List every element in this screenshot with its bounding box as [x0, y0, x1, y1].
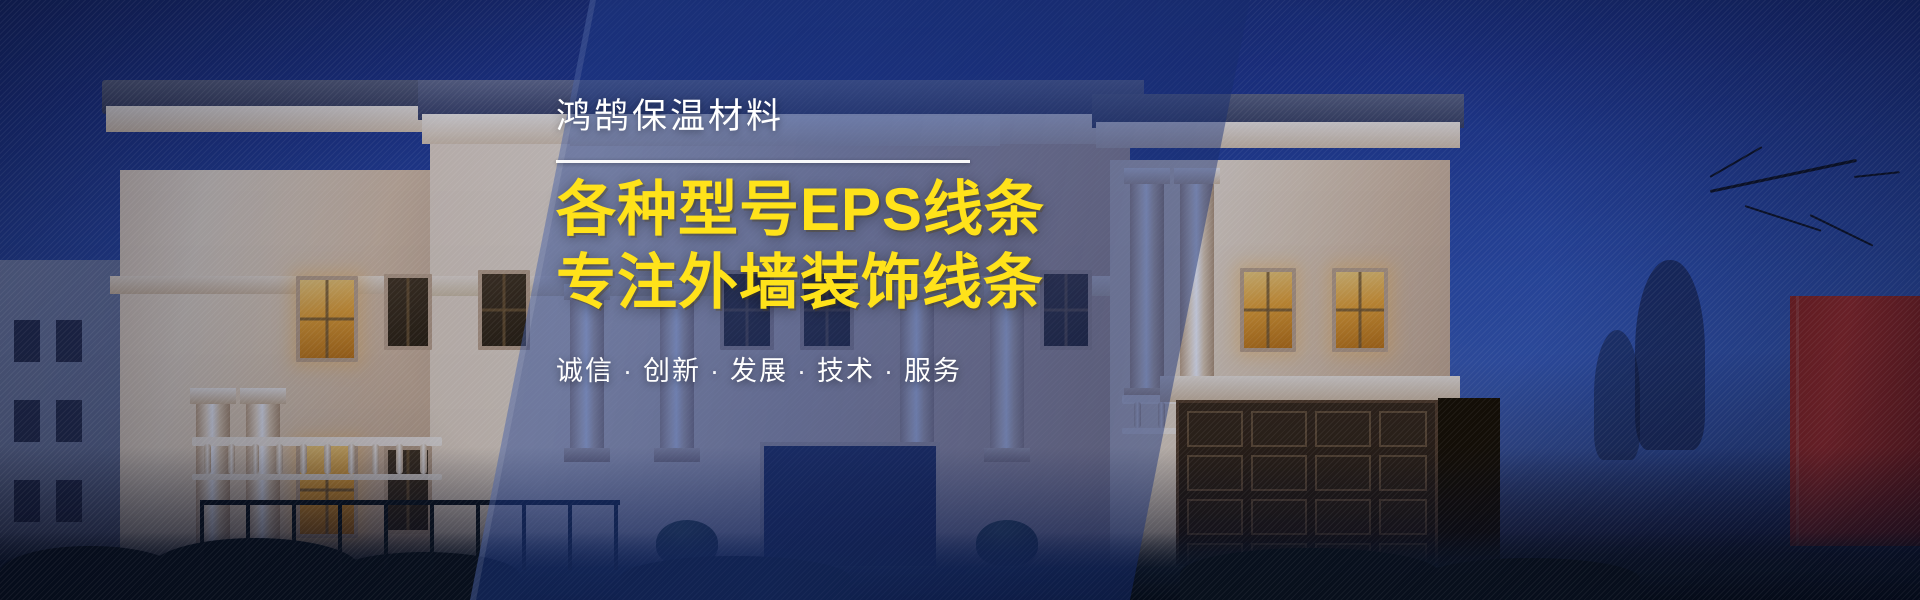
- tagline-item: 诚信: [556, 356, 614, 386]
- tagline-separator: ·: [797, 356, 808, 386]
- tagline-separator: ·: [710, 356, 721, 386]
- brand-name: 鸿鹄保温材料: [556, 96, 1026, 138]
- tagline-item: 技术: [817, 356, 875, 386]
- divider-rule: [556, 160, 970, 163]
- promotional-banner: 鸿鹄保温材料 各种型号EPS线条 专注外墙装饰线条 诚信·创新·发展·技术·服务: [0, 0, 1920, 600]
- tagline-item: 创新: [643, 356, 701, 386]
- tagline-item: 发展: [730, 356, 788, 386]
- banner-copy: 鸿鹄保温材料 各种型号EPS线条 专注外墙装饰线条 诚信·创新·发展·技术·服务: [556, 96, 1026, 388]
- headline-line-1: 各种型号EPS线条: [556, 173, 1026, 246]
- tagline-separator: ·: [884, 356, 895, 386]
- tagline-item: 服务: [904, 356, 962, 386]
- tagline-separator: ·: [623, 356, 634, 386]
- headline-line-2: 专注外墙装饰线条: [556, 246, 1026, 319]
- tagline: 诚信·创新·发展·技术·服务: [556, 349, 1026, 388]
